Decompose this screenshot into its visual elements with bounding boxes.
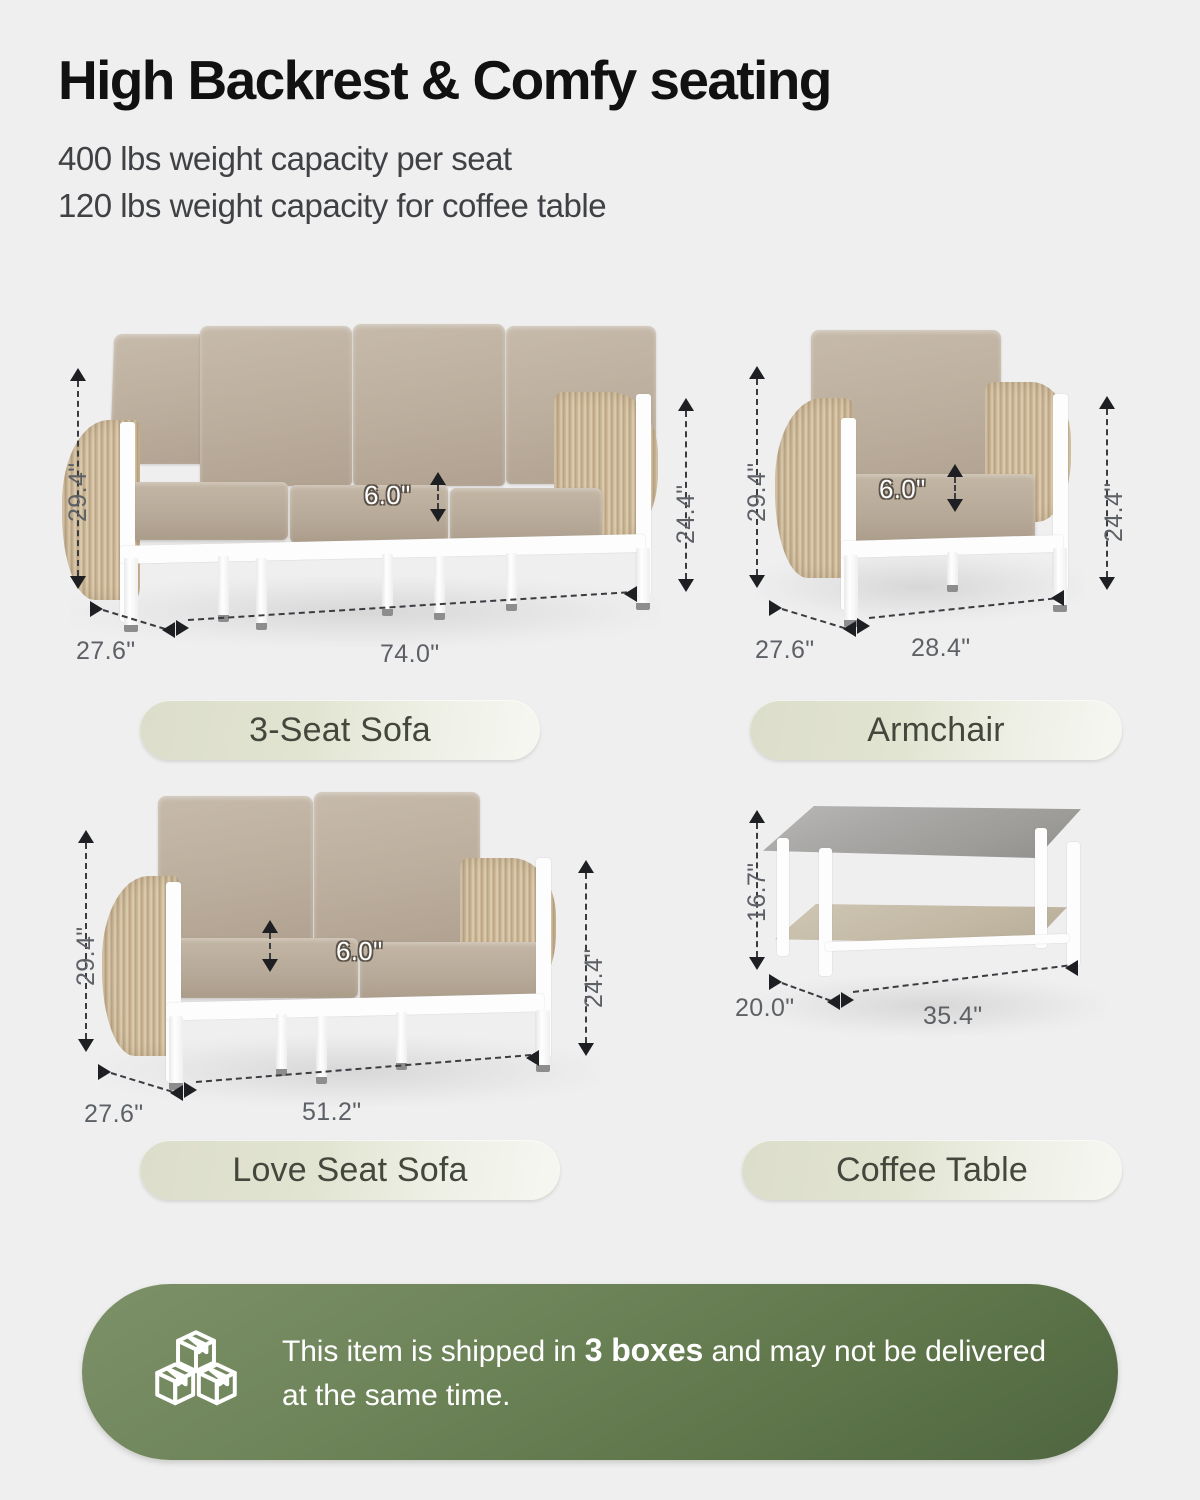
armchair-width-arrow-start bbox=[857, 618, 870, 634]
subtitle-line-2: 120 lbs weight capacity for coffee table bbox=[58, 183, 1200, 230]
product-label-coffee-table: Coffee Table bbox=[742, 1140, 1122, 1200]
shipping-text-before: This item is shipped in bbox=[282, 1335, 585, 1368]
product-label-armchair: Armchair bbox=[750, 700, 1122, 760]
armchair-height-arrow-bottom bbox=[749, 575, 765, 588]
armchair-width-arrow-end bbox=[1051, 590, 1064, 606]
sofa-cushion-arrow-up bbox=[430, 472, 446, 485]
sofa-cushion-dim-line bbox=[437, 485, 439, 509]
armchair-cushion-dim-line bbox=[954, 477, 956, 499]
sofa-seat-cushion-1 bbox=[128, 482, 288, 540]
loveseat-height-arrow-bottom bbox=[78, 1039, 94, 1052]
loveseat-seat-height-arrow-top bbox=[578, 860, 594, 873]
product-grid: 6.0" 29.4" 27.6" 74.0" 24.4" bbox=[0, 316, 1200, 1246]
sofa-back-cushion-2 bbox=[200, 326, 352, 486]
sofa-depth-arrow-end bbox=[162, 622, 175, 638]
armchair-seat-height-arrow-top bbox=[1099, 396, 1115, 409]
loveseat-width-label: 51.2" bbox=[302, 1098, 362, 1127]
shipping-banner-text: This item is shipped in 3 boxes and may … bbox=[282, 1327, 1072, 1417]
coffee-table-height-arrow-top bbox=[749, 810, 765, 823]
armchair-cushion-arrow-down bbox=[947, 499, 963, 512]
product-label-coffee-table-text: Coffee Table bbox=[836, 1151, 1028, 1190]
loveseat-seat-height-arrow-bottom bbox=[578, 1043, 594, 1056]
coffee-table-width-label: 35.4" bbox=[923, 1002, 983, 1031]
sofa-depth-arrow-start bbox=[90, 601, 103, 617]
sofa-leg-7 bbox=[636, 548, 650, 610]
loveseat-seat-cushion-2 bbox=[360, 942, 540, 1002]
loveseat-depth-arrow-end bbox=[170, 1085, 183, 1101]
coffee-table-leg-back-right bbox=[1035, 828, 1047, 948]
coffee-table-depth-arrow-end bbox=[827, 994, 840, 1010]
loveseat-depth-label: 27.6" bbox=[84, 1100, 144, 1129]
sofa-seat-height-label: 24.4" bbox=[672, 484, 701, 544]
loveseat-depth-arrow-start bbox=[98, 1064, 111, 1080]
armchair-cushion-dim-label: 6.0" bbox=[879, 474, 926, 505]
coffee-table-depth-label: 20.0" bbox=[735, 994, 795, 1023]
loveseat-cushion-arrow-up bbox=[262, 920, 278, 933]
product-label-sofa: 3-Seat Sofa bbox=[140, 700, 540, 760]
armchair-seat-cushion bbox=[849, 474, 1035, 544]
loveseat-leg-4 bbox=[396, 1012, 407, 1070]
sofa-width-arrow-end bbox=[624, 586, 637, 602]
sofa-leg-6 bbox=[506, 553, 517, 611]
armchair-cushion-arrow-up bbox=[947, 464, 963, 477]
armchair-depth-label: 27.6" bbox=[755, 636, 815, 665]
armchair-height-label: 29.4" bbox=[743, 462, 772, 522]
coffee-table-depth-arrow-start bbox=[769, 974, 782, 990]
armchair-seat-height-arrow-bottom bbox=[1099, 577, 1115, 590]
boxes-icon bbox=[144, 1320, 248, 1424]
sofa-leg-5 bbox=[434, 556, 445, 620]
armchair-seat-height-label: 24.4" bbox=[1100, 482, 1129, 542]
shipping-banner: This item is shipped in 3 boxes and may … bbox=[82, 1284, 1118, 1460]
subtitle-group: 400 lbs weight capacity per seat 120 lbs… bbox=[58, 136, 1200, 230]
loveseat-back-cushion-2 bbox=[314, 792, 480, 944]
coffee-table-leg-back-left bbox=[777, 838, 789, 956]
loveseat-leg-2 bbox=[276, 1014, 287, 1076]
sofa-floor-shadow bbox=[70, 577, 660, 647]
coffee-table-height-arrow-bottom bbox=[749, 957, 765, 970]
sofa-back-cushion-3 bbox=[353, 324, 505, 486]
armchair-depth-arrow-start bbox=[769, 600, 782, 616]
armchair-leg-3 bbox=[947, 552, 958, 592]
coffee-table-leg-front-left bbox=[819, 848, 832, 976]
armchair-height-arrow-top bbox=[749, 366, 765, 379]
sofa-cushion-dim-label: 6.0" bbox=[364, 480, 411, 511]
loveseat-cushion-dim-line bbox=[269, 933, 271, 959]
sofa-height-arrow-top bbox=[70, 368, 86, 381]
page-title: High Backrest & Comfy seating bbox=[58, 52, 1200, 110]
loveseat-leg-3 bbox=[316, 1016, 327, 1084]
sofa-seat-height-arrow-bottom bbox=[678, 579, 694, 592]
loveseat-cushion-arrow-down bbox=[262, 959, 278, 972]
coffee-table-top bbox=[763, 806, 1081, 858]
loveseat-height-label: 29.4" bbox=[72, 926, 101, 986]
armchair-depth-arrow-end bbox=[843, 621, 856, 637]
sofa-width-arrow-start bbox=[176, 620, 189, 636]
sofa-height-arrow-bottom bbox=[70, 576, 86, 589]
sofa-seat-height-arrow-top bbox=[678, 398, 694, 411]
armchair-width-label: 28.4" bbox=[911, 634, 971, 663]
loveseat-back-cushion-1 bbox=[158, 796, 313, 944]
product-label-armchair-text: Armchair bbox=[867, 711, 1005, 750]
coffee-table-width-arrow-end bbox=[1065, 960, 1078, 976]
product-label-loveseat: Love Seat Sofa bbox=[140, 1140, 560, 1200]
loveseat-width-arrow-start bbox=[184, 1082, 197, 1098]
loveseat-width-arrow-end bbox=[526, 1050, 539, 1066]
loveseat-cushion-dim-label: 6.0" bbox=[336, 936, 383, 967]
sofa-cushion-arrow-down bbox=[430, 509, 446, 522]
armchair-leg-1 bbox=[844, 555, 858, 627]
loveseat-seat-height-label: 24.4" bbox=[580, 948, 609, 1008]
sofa-leg-3 bbox=[256, 558, 267, 630]
loveseat-height-arrow-top bbox=[78, 830, 94, 843]
sofa-depth-label: 27.6" bbox=[76, 637, 136, 666]
sofa-leg-2 bbox=[218, 556, 229, 622]
coffee-table-leg-front-right bbox=[1067, 842, 1080, 966]
subtitle-line-1: 400 lbs weight capacity per seat bbox=[58, 136, 1200, 183]
sofa-height-label: 29.4" bbox=[64, 462, 93, 522]
coffee-table-height-label: 16.7" bbox=[743, 862, 772, 922]
loveseat-leg-1 bbox=[169, 1016, 183, 1090]
sofa-width-label: 74.0" bbox=[380, 640, 440, 669]
product-label-sofa-text: 3-Seat Sofa bbox=[249, 711, 431, 750]
coffee-table-width-arrow-start bbox=[841, 992, 854, 1008]
header: High Backrest & Comfy seating 400 lbs we… bbox=[0, 0, 1200, 229]
shipping-box-count: 3 boxes bbox=[585, 1332, 703, 1368]
product-label-loveseat-text: Love Seat Sofa bbox=[232, 1151, 467, 1190]
